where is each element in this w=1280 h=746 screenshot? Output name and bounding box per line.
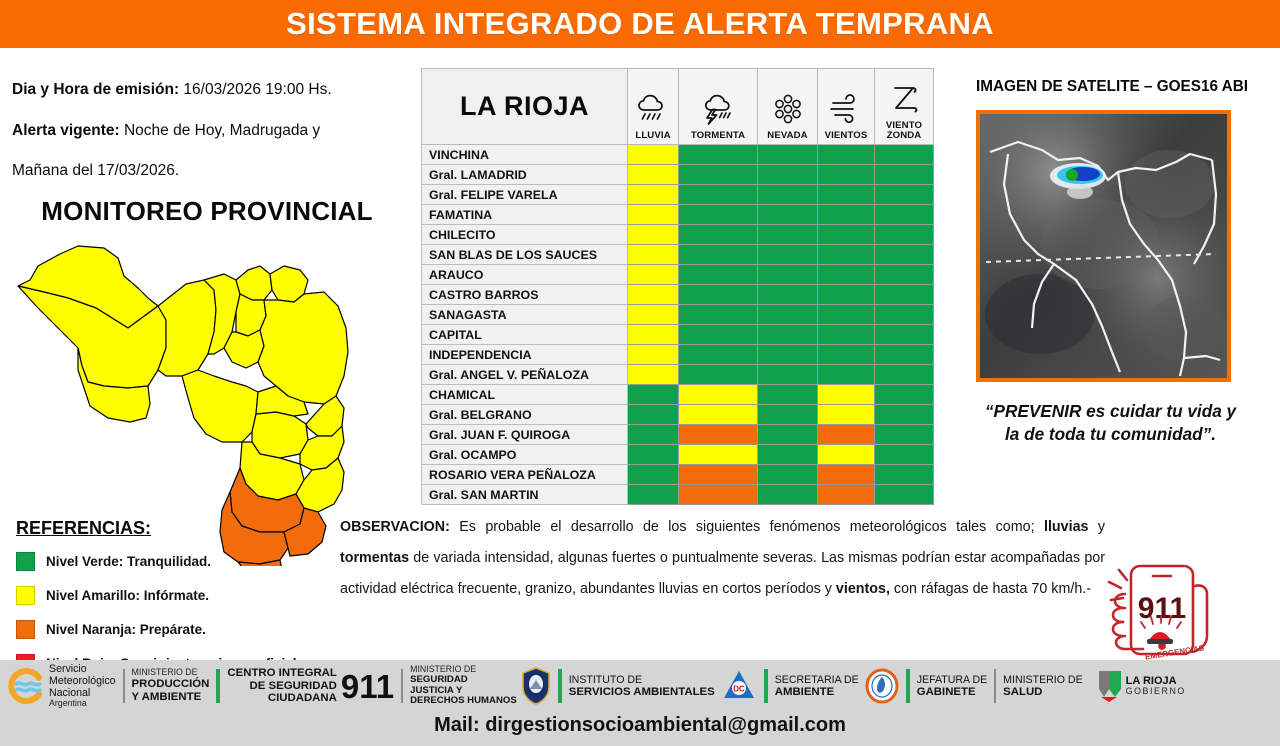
alert-cell-viento	[875, 325, 934, 345]
alert-cell-tormenta	[679, 285, 758, 305]
logo-secretaria-ambiente: SECRETARIA DE AMBIENTE	[775, 663, 859, 709]
alert-cell-nevada	[758, 445, 818, 465]
province-map	[8, 236, 378, 566]
references-title: REFERENCIAS:	[16, 518, 356, 539]
observation-text-2: y	[1088, 519, 1105, 535]
table-row: Gral. OCAMPO	[422, 445, 934, 465]
alert-validity-value2: Mañana del 17/03/2026.	[12, 162, 179, 179]
zonda-wind-icon	[876, 77, 932, 121]
reference-item-amarillo: Nivel Amarillo: Infórmate.	[16, 582, 356, 609]
column-header-vientos: VIENTOS	[818, 69, 875, 145]
column-label-nevada: NEVADA	[759, 131, 816, 141]
department-name: CHILECITO	[422, 225, 628, 245]
page-title: SISTEMA INTEGRADO DE ALERTA TEMPRANA	[286, 6, 994, 42]
observation-text-1: Es probable el desarrollo de los siguien…	[450, 519, 1044, 535]
department-name: CHAMICAL	[422, 385, 628, 405]
alert-cell-viento	[875, 165, 934, 185]
alert-table: LA RIOJA LLUVIA	[421, 68, 934, 505]
produccion-line2: PRODUCCIÓN	[132, 678, 210, 691]
alert-cell-lluvia	[628, 205, 679, 225]
monitoreo-title: MONITOREO PROVINCIAL	[12, 196, 402, 227]
column-header-tormenta: TORMENTA	[679, 69, 758, 145]
table-row: CHAMICAL	[422, 385, 934, 405]
reference-item-naranja: Nivel Naranja: Prepárate.	[16, 616, 356, 643]
contact-mail: Mail: dirgestionsocioambiental@gmail.com	[0, 714, 1280, 737]
logo-gabinete-seal	[865, 663, 899, 709]
satellite-label: IMAGEN DE SATELITE – GOES16 ABI	[952, 78, 1272, 96]
reference-swatch-verde	[16, 552, 35, 571]
alert-cell-tormenta	[679, 485, 758, 505]
alert-cell-tormenta	[679, 225, 758, 245]
table-row: Gral. JUAN F. QUIROGA	[422, 425, 934, 445]
alert-cell-nevada	[758, 465, 818, 485]
alert-cell-vientos	[818, 205, 875, 225]
wind-icon	[819, 87, 873, 131]
column-header-nevada: NEVADA	[758, 69, 818, 145]
smn-line4: Argentina	[49, 699, 116, 709]
cic-line3: CIUDADANA	[227, 692, 336, 705]
thunderstorm-icon	[680, 87, 756, 131]
alert-cell-tormenta	[679, 165, 758, 185]
table-row: Gral. BELGRANO	[422, 405, 934, 425]
alert-cell-vientos	[818, 405, 875, 425]
produccion-line1: MINISTERIO DE	[132, 668, 210, 678]
alert-validity-value: Noche de Hoy, Madrugada y	[124, 122, 320, 139]
alert-cell-tormenta	[679, 205, 758, 225]
table-row: SANAGASTA	[422, 305, 934, 325]
alert-cell-vientos	[818, 265, 875, 285]
alert-cell-vientos	[818, 485, 875, 505]
department-name: Gral. JUAN F. QUIROGA	[422, 425, 628, 445]
alert-cell-nevada	[758, 385, 818, 405]
table-row: SAN BLAS DE LOS SAUCES	[422, 245, 934, 265]
department-name: ARAUCO	[422, 265, 628, 285]
department-name: FAMATINA	[422, 205, 628, 225]
alert-cell-lluvia	[628, 465, 679, 485]
alert-cell-vientos	[818, 305, 875, 325]
alert-validity-label: Alerta vigente:	[12, 122, 120, 139]
table-row: CAPITAL	[422, 325, 934, 345]
isa-line1: INSTITUTO DE	[569, 674, 715, 686]
department-name: Gral. FELIPE VARELA	[422, 185, 628, 205]
alert-cell-tormenta	[679, 465, 758, 485]
alert-cell-nevada	[758, 405, 818, 425]
logo-smn: Servicio Meteorológico Nacional Argentin…	[6, 663, 116, 709]
observation-text-4: con ráfagas de hasta 70 km/h.-	[890, 581, 1091, 597]
alert-cell-nevada	[758, 365, 818, 385]
alert-cell-nevada	[758, 285, 818, 305]
alert-validity-line: Alerta vigente: Noche de Hoy, Madrugada …	[12, 123, 320, 139]
observation-bold-3: vientos,	[836, 581, 890, 597]
911-phone-icon: 911 EMERGENCIAS	[1085, 560, 1265, 660]
observation-bold-1: lluvias	[1044, 519, 1089, 535]
smn-line1: Servicio	[49, 663, 116, 675]
table-row: Gral. FELIPE VARELA	[422, 185, 934, 205]
snowflake-icon	[759, 87, 816, 131]
alert-cell-vientos	[818, 245, 875, 265]
logo-la-rioja-gobierno: LA RIOJA GOBIERNO	[1097, 663, 1186, 709]
alert-cell-tormenta	[679, 445, 758, 465]
department-name: SANAGASTA	[422, 305, 628, 325]
table-row: Gral. SAN MARTIN	[422, 485, 934, 505]
rain-cloud-icon	[629, 87, 677, 131]
observation-bold-2: tormentas	[340, 550, 409, 566]
emission-value: 16/03/2026 19:00 Hs.	[183, 81, 331, 98]
department-name: ROSARIO VERA PEÑALOZA	[422, 465, 628, 485]
alert-cell-nevada	[758, 345, 818, 365]
divider-6	[906, 669, 910, 703]
alert-cell-vientos	[818, 225, 875, 245]
logo-servicios-ambientales: INSTITUTO DE SERVICIOS AMBIENTALES	[569, 663, 715, 709]
table-header-row: LA RIOJA LLUVIA	[422, 69, 934, 145]
la-rioja-gobierno-icon	[1097, 669, 1123, 703]
alert-matrix: LA RIOJA LLUVIA	[421, 68, 933, 505]
alert-cell-viento	[875, 405, 934, 425]
table-row: Gral. LAMADRID	[422, 165, 934, 185]
seg-line4: DERECHOS HUMANOS	[410, 696, 517, 707]
alert-cell-lluvia	[628, 365, 679, 385]
alert-cell-tormenta	[679, 365, 758, 385]
table-row: ROSARIO VERA PEÑALOZA	[422, 465, 934, 485]
alert-bulletin-page: SISTEMA INTEGRADO DE ALERTA TEMPRANA Dia…	[0, 0, 1280, 746]
alert-cell-viento	[875, 285, 934, 305]
reference-item-verde: Nivel Verde: Tranquilidad.	[16, 548, 356, 575]
alert-cell-lluvia	[628, 485, 679, 505]
divider-5	[764, 669, 768, 703]
logo-jefatura-gabinete: JEFATURA DE GABINETE	[917, 663, 987, 709]
column-label-tormenta: TORMENTA	[680, 131, 756, 141]
alert-cell-tormenta	[679, 145, 758, 165]
observation-block: OBSERVACION: Es probable el desarrollo d…	[340, 512, 1105, 605]
alert-cell-vientos	[818, 465, 875, 485]
gab-line1: JEFATURA DE	[917, 674, 987, 686]
alert-cell-viento	[875, 465, 934, 485]
department-name: Gral. OCAMPO	[422, 445, 628, 465]
department-name: INDEPENDENCIA	[422, 345, 628, 365]
alert-cell-tormenta	[679, 345, 758, 365]
salud-line1: MINISTERIO DE	[1003, 674, 1082, 686]
column-label-vientos: VIENTOS	[819, 131, 873, 141]
alert-cell-viento	[875, 205, 934, 225]
divider-7	[994, 669, 996, 703]
alert-cell-nevada	[758, 265, 818, 285]
alert-cell-lluvia	[628, 405, 679, 425]
alert-cell-viento	[875, 145, 934, 165]
alert-cell-vientos	[818, 425, 875, 445]
produccion-line3: Y AMBIENTE	[132, 691, 210, 704]
alert-cell-vientos	[818, 185, 875, 205]
footer: Servicio Meteorológico Nacional Argentin…	[0, 660, 1280, 746]
911-caption: EMERGENCIAS	[1144, 643, 1205, 660]
satellite-image-svg	[980, 114, 1227, 378]
isa-line2: SERVICIOS AMBIENTALES	[569, 686, 715, 699]
alert-cell-lluvia	[628, 345, 679, 365]
alert-cell-viento	[875, 485, 934, 505]
alert-cell-viento	[875, 425, 934, 445]
table-row: INDEPENDENCIA	[422, 345, 934, 365]
department-name: Gral. LAMADRID	[422, 165, 628, 185]
alert-cell-viento	[875, 185, 934, 205]
alert-cell-tormenta	[679, 245, 758, 265]
department-name: SAN BLAS DE LOS SAUCES	[422, 245, 628, 265]
alert-cell-vientos	[818, 165, 875, 185]
alert-cell-viento	[875, 385, 934, 405]
reference-label-naranja: Nivel Naranja: Prepárate.	[46, 622, 206, 637]
alert-cell-vientos	[818, 345, 875, 365]
alert-cell-nevada	[758, 165, 818, 185]
observation-label: OBSERVACION:	[340, 519, 450, 535]
la-rioja-map-svg	[8, 236, 378, 566]
quote-line1: “PREVENIR es cuidar tu vida y	[948, 400, 1273, 423]
alert-cell-viento	[875, 265, 934, 285]
logo-ministerio-salud: MINISTERIO DE SALUD	[1003, 663, 1082, 709]
alert-cell-nevada	[758, 485, 818, 505]
alert-cell-nevada	[758, 205, 818, 225]
alert-cell-lluvia	[628, 305, 679, 325]
alert-cell-nevada	[758, 325, 818, 345]
alert-cell-vientos	[818, 365, 875, 385]
column-label-lluvia: LLUVIA	[629, 131, 677, 141]
table-row: CASTRO BARROS	[422, 285, 934, 305]
alert-cell-viento	[875, 365, 934, 385]
column-label-zonda: ZONDA	[876, 131, 932, 141]
logo-produccion: MINISTERIO DE PRODUCCIÓN Y AMBIENTE	[132, 663, 210, 709]
police-shield-icon	[521, 667, 551, 705]
alert-cell-tormenta	[679, 185, 758, 205]
alert-cell-nevada	[758, 225, 818, 245]
alert-cell-vientos	[818, 285, 875, 305]
column-header-viento-zonda: VIENTO ZONDA	[875, 69, 934, 145]
department-name: VINCHINA	[422, 145, 628, 165]
alert-validity-line2: Mañana del 17/03/2026.	[12, 163, 179, 179]
reference-swatch-amarillo	[16, 586, 35, 605]
divider-2	[216, 669, 220, 703]
department-name: Gral. BELGRANO	[422, 405, 628, 425]
gab-line2: GABINETE	[917, 686, 987, 699]
logo-police-shield	[521, 663, 551, 709]
cic-line2: DE SEGURIDAD	[227, 680, 336, 693]
emission-label: Dia y Hora de emisión:	[12, 81, 179, 98]
alert-table-body: VINCHINAGral. LAMADRIDGral. FELIPE VAREL…	[422, 145, 934, 505]
alert-cell-tormenta	[679, 305, 758, 325]
quote-line2: la de toda tu comunidad”.	[948, 423, 1273, 446]
alert-cell-lluvia	[628, 225, 679, 245]
alert-cell-viento	[875, 445, 934, 465]
page-header: SISTEMA INTEGRADO DE ALERTA TEMPRANA	[0, 0, 1280, 48]
divider-1	[123, 669, 125, 703]
alert-cell-vientos	[818, 385, 875, 405]
alert-cell-nevada	[758, 305, 818, 325]
svg-text:DC: DC	[733, 685, 745, 694]
alert-cell-lluvia	[628, 185, 679, 205]
reference-swatch-naranja	[16, 620, 35, 639]
alert-cell-lluvia	[628, 325, 679, 345]
logo-defensa-civil: DC	[721, 663, 757, 709]
table-row: ARAUCO	[422, 265, 934, 285]
alert-cell-lluvia	[628, 425, 679, 445]
alert-cell-lluvia	[628, 265, 679, 285]
alert-cell-nevada	[758, 425, 818, 445]
alert-cell-vientos	[818, 445, 875, 465]
satellite-image	[976, 110, 1231, 382]
alert-cell-vientos	[818, 145, 875, 165]
alert-cell-lluvia	[628, 245, 679, 265]
alert-cell-viento	[875, 305, 934, 325]
alert-cell-lluvia	[628, 165, 679, 185]
table-row: Gral. ANGEL V. PEÑALOZA	[422, 365, 934, 385]
alert-cell-lluvia	[628, 385, 679, 405]
table-row: CHILECITO	[422, 225, 934, 245]
alert-table-head: LA RIOJA LLUVIA	[422, 69, 934, 145]
cic-line1: CENTRO INTEGRAL	[227, 667, 336, 680]
alert-cell-tormenta	[679, 425, 758, 445]
alert-cell-viento	[875, 245, 934, 265]
alert-cell-tormenta	[679, 405, 758, 425]
alert-cell-nevada	[758, 245, 818, 265]
logo-strip: Servicio Meteorológico Nacional Argentin…	[0, 660, 1280, 712]
divider-4	[558, 669, 562, 703]
reference-label-verde: Nivel Verde: Tranquilidad.	[46, 554, 211, 569]
gabinete-seal-icon	[865, 668, 899, 704]
table-row: VINCHINA	[422, 145, 934, 165]
logo-seguridad: MINISTERIO DE SEGURIDAD JUSTICIA Y DEREC…	[410, 663, 517, 709]
rioja-line2: GOBIERNO	[1126, 687, 1186, 697]
smn-logo-icon	[6, 666, 46, 706]
alert-cell-lluvia	[628, 285, 679, 305]
seg-line2: SEGURIDAD	[410, 675, 517, 686]
alert-cell-tormenta	[679, 385, 758, 405]
reference-label-amarillo: Nivel Amarillo: Infórmate.	[46, 588, 209, 603]
alert-cell-lluvia	[628, 445, 679, 465]
alert-cell-lluvia	[628, 145, 679, 165]
emergency-911-graphic: 911 EMERGENCIAS	[1085, 560, 1265, 660]
column-header-lluvia: LLUVIA	[628, 69, 679, 145]
department-name: Gral. ANGEL V. PEÑALOZA	[422, 365, 628, 385]
amb-line2: AMBIENTE	[775, 686, 859, 699]
emission-line: Dia y Hora de emisión: 16/03/2026 19:00 …	[12, 82, 332, 98]
prevention-quote: “PREVENIR es cuidar tu vida y la de toda…	[948, 400, 1273, 446]
department-name: CAPITAL	[422, 325, 628, 345]
salud-line2: SALUD	[1003, 686, 1082, 699]
911-number: 911	[1138, 592, 1186, 625]
defensa-civil-icon: DC	[721, 668, 757, 704]
cic-911-number: 911	[341, 670, 394, 703]
divider-3	[401, 669, 403, 703]
province-name-header: LA RIOJA	[422, 69, 628, 145]
department-name: Gral. SAN MARTIN	[422, 485, 628, 505]
alert-cell-tormenta	[679, 265, 758, 285]
logo-911: CENTRO INTEGRAL DE SEGURIDAD CIUDADANA 9…	[227, 663, 394, 709]
department-name: CASTRO BARROS	[422, 285, 628, 305]
amb-line1: SECRETARIA DE	[775, 674, 859, 686]
alert-cell-nevada	[758, 145, 818, 165]
alert-cell-tormenta	[679, 325, 758, 345]
table-row: FAMATINA	[422, 205, 934, 225]
alert-cell-viento	[875, 225, 934, 245]
smn-line2: Meteorológico	[49, 675, 116, 687]
alert-cell-viento	[875, 345, 934, 365]
alert-cell-vientos	[818, 325, 875, 345]
alert-cell-nevada	[758, 185, 818, 205]
